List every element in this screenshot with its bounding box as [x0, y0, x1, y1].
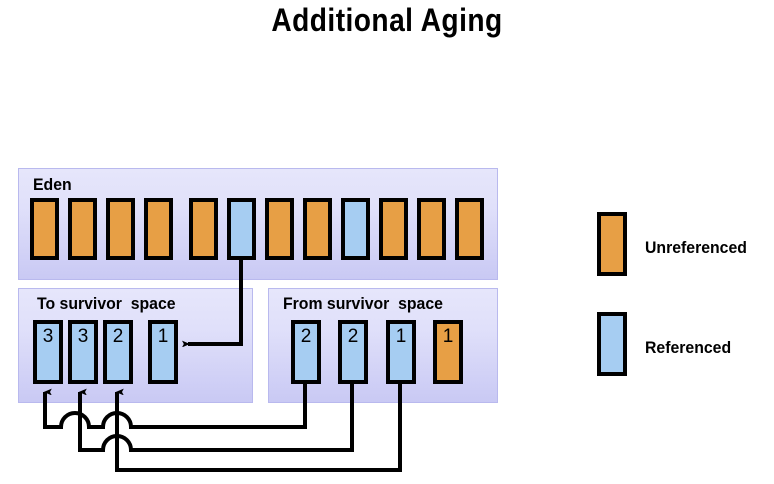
to-survivor-cell-1[interactable]: 3: [33, 320, 63, 384]
eden-cell-10[interactable]: [379, 198, 408, 260]
eden-cell-11[interactable]: [417, 198, 446, 260]
from-survivor-cell-4[interactable]: 1: [433, 320, 463, 384]
to-survivor-cell-2[interactable]: 3: [68, 320, 98, 384]
to-survivor-cell-1-age: 3: [43, 327, 54, 346]
legend-label-referenced: Referenced: [645, 338, 731, 358]
from-survivor-cell-3-age: 1: [396, 327, 407, 346]
from-survivor-cell-1-age: 2: [301, 327, 312, 346]
to-survivor-cell-2-age: 3: [78, 327, 89, 346]
legend-label-unreferenced: Unreferenced: [645, 238, 747, 258]
region-eden-label: Eden: [33, 175, 72, 195]
diagram-canvas: Additional Aging Eden To survivor space …: [0, 0, 774, 484]
from-survivor-cell-3[interactable]: 1: [386, 320, 416, 384]
eden-cell-6[interactable]: [227, 198, 256, 260]
page-title: Additional Aging: [46, 2, 727, 39]
region-to-survivor-space-label: To survivor space: [37, 294, 176, 314]
eden-cell-3[interactable]: [106, 198, 135, 260]
to-survivor-cell-3-age: 2: [113, 327, 124, 346]
to-survivor-cell-4-age: 1: [158, 327, 169, 346]
eden-cell-8[interactable]: [303, 198, 332, 260]
eden-cell-12[interactable]: [455, 198, 484, 260]
from-survivor-cell-4-age: 1: [443, 327, 454, 346]
from-survivor-cell-2[interactable]: 2: [338, 320, 368, 384]
eden-cell-5[interactable]: [189, 198, 218, 260]
eden-cell-1[interactable]: [30, 198, 59, 260]
region-from-survivor-space-label: From survivor space: [283, 294, 443, 314]
to-survivor-cell-3[interactable]: 2: [103, 320, 133, 384]
from-survivor-cell-2-age: 2: [348, 327, 359, 346]
from-survivor-cell-1[interactable]: 2: [291, 320, 321, 384]
eden-cell-7[interactable]: [265, 198, 294, 260]
eden-cell-4[interactable]: [144, 198, 173, 260]
eden-cell-9[interactable]: [341, 198, 370, 260]
to-survivor-cell-4[interactable]: 1: [148, 320, 178, 384]
legend-swatch-referenced: [597, 312, 627, 376]
eden-cell-2[interactable]: [68, 198, 97, 260]
legend-swatch-unreferenced: [597, 212, 627, 276]
